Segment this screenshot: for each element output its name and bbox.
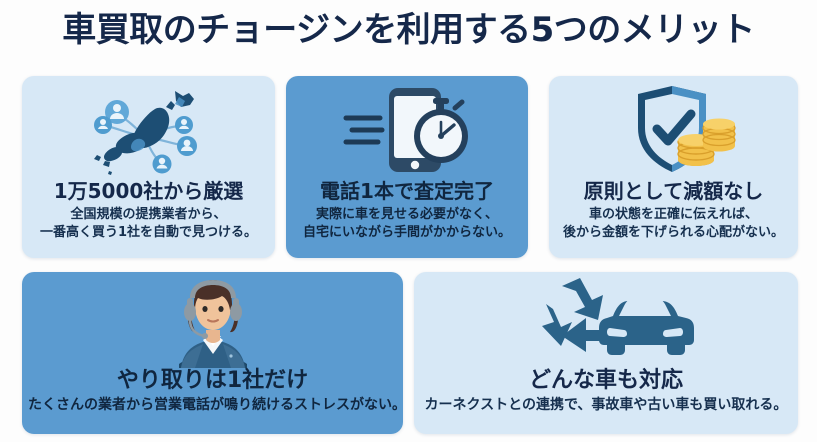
benefits-infographic: 車買取のチョージンを利用する5つのメリット	[0, 0, 817, 442]
call-center-operator-icon	[22, 278, 403, 368]
benefit-card-single-contact: やり取りは1社だけ たくさんの業者から営業電話が鳴り続けるストレスがない。	[22, 272, 403, 434]
benefit-card-no-price-reduction-text: 原則として減額なし 車の状態を正確に伝えれば、 後から金額を下げられる心配がない…	[549, 180, 798, 241]
benefit-card-no-price-reduction: 原則として減額なし 車の状態を正確に伝えれば、 後から金額を下げられる心配がない…	[549, 76, 798, 258]
card-heading: 原則として減額なし	[555, 180, 792, 203]
card-heading: どんな車も対応	[420, 368, 792, 393]
card-heading: 1万5000社から厳選	[28, 180, 269, 203]
benefit-card-any-car-text: どんな車も対応 カーネクストとの連携で、事故車や古い車も買い取れる。	[414, 368, 798, 415]
card-body: 実際に車を見せる必要がなく、 自宅にいながら手間がかからない。	[292, 206, 522, 241]
card-body: 全国規模の提携業者から、 一番高く買う1社を自動で見つける。	[28, 206, 269, 241]
recycle-car-icon	[414, 278, 798, 366]
card-heading: 電話1本で査定完了	[292, 180, 522, 203]
benefit-card-any-car: どんな車も対応 カーネクストとの連携で、事故車や古い車も買い取れる。	[414, 272, 798, 434]
card-body: 車の状態を正確に伝えれば、 後から金額を下げられる心配がない。	[555, 206, 792, 241]
smartphone-stopwatch-icon	[286, 82, 528, 178]
benefit-card-nationwide: 1万5000社から厳選 全国規模の提携業者から、 一番高く買う1社を自動で見つけ…	[22, 76, 275, 258]
benefit-card-phone-appraisal: 電話1本で査定完了 実際に車を見せる必要がなく、 自宅にいながら手間がかからない…	[286, 76, 528, 258]
page-title: 車買取のチョージンを利用する5つのメリット	[0, 12, 817, 49]
benefit-card-single-contact-text: やり取りは1社だけ たくさんの業者から営業電話が鳴り続けるストレスがない。	[22, 368, 403, 415]
benefit-card-nationwide-text: 1万5000社から厳選 全国規模の提携業者から、 一番高く買う1社を自動で見つけ…	[22, 180, 275, 241]
japan-map-network-icon	[22, 84, 275, 178]
card-body: たくさんの業者から営業電話が鳴り続けるストレスがない。	[28, 396, 397, 415]
shield-check-coins-icon	[549, 84, 798, 178]
card-heading: やり取りは1社だけ	[28, 368, 397, 393]
benefit-card-phone-appraisal-text: 電話1本で査定完了 実際に車を見せる必要がなく、 自宅にいながら手間がかからない…	[286, 180, 528, 241]
card-body: カーネクストとの連携で、事故車や古い車も買い取れる。	[420, 396, 792, 415]
